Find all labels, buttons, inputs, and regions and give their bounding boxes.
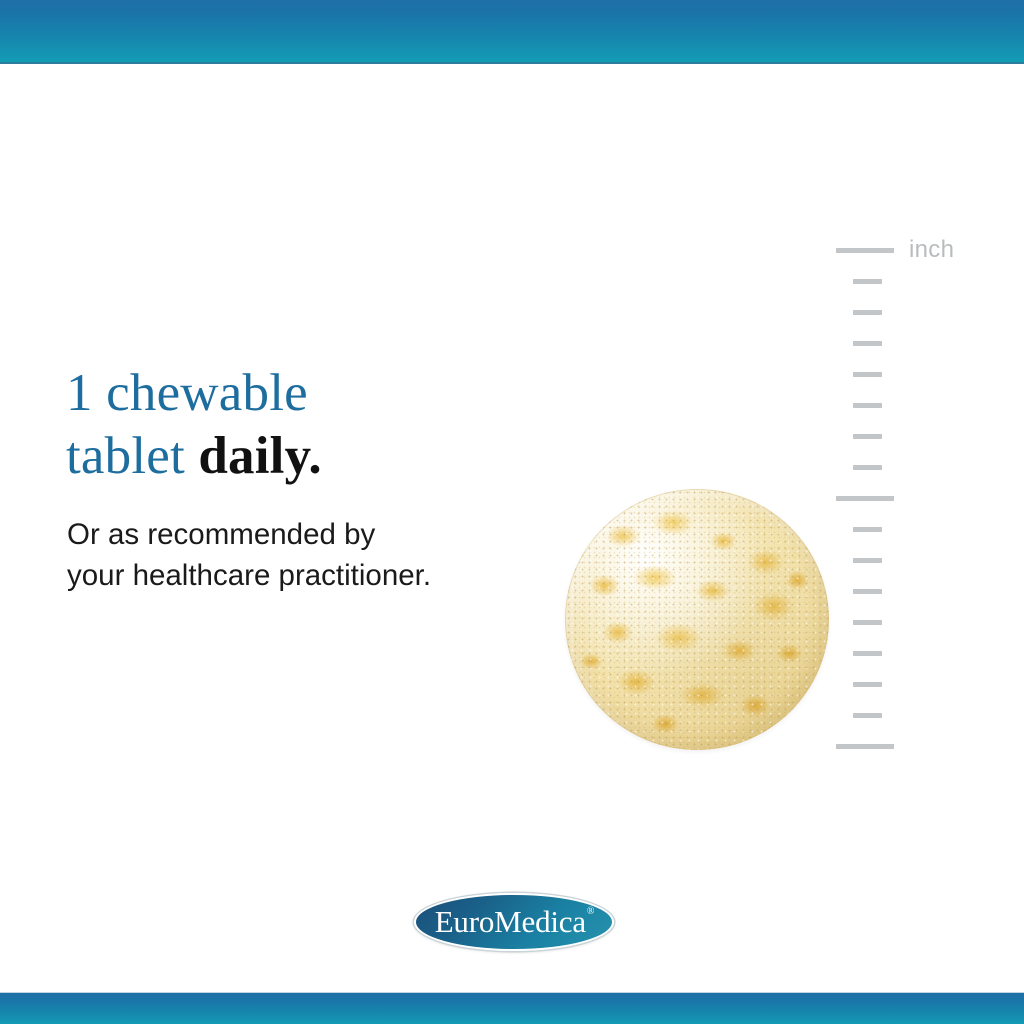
ruler-minor-tick xyxy=(853,589,882,594)
ruler-major-tick-0in xyxy=(836,248,894,253)
headline-block: 1 chewabletablet daily. xyxy=(66,362,536,488)
bottom-brand-bar xyxy=(0,992,1024,1024)
ruler-minor-tick xyxy=(853,341,882,346)
ruler-minor-tick xyxy=(853,682,882,687)
ruler-minor-tick xyxy=(853,279,882,284)
ruler-minor-tick xyxy=(853,372,882,377)
euromedica-logo: EuroMedica® xyxy=(414,893,614,951)
product-detail-image: 1 chewabletablet daily. Or as recommende… xyxy=(0,0,1024,1024)
chewable-tablet xyxy=(565,489,829,750)
top-brand-bar xyxy=(0,0,1024,64)
tablet-edge xyxy=(565,489,829,750)
ruler-minor-tick xyxy=(853,651,882,656)
ruler-minor-tick xyxy=(853,434,882,439)
headline-line-2-emphasis: daily. xyxy=(198,427,321,485)
logo-oval-shape: EuroMedica® xyxy=(414,893,614,951)
scale-ruler: inch xyxy=(836,248,986,758)
registered-trademark-icon: ® xyxy=(587,906,594,917)
ruler-minor-tick xyxy=(853,713,882,718)
ruler-minor-tick xyxy=(853,310,882,315)
ruler-major-tick-1in xyxy=(836,496,894,501)
ruler-minor-tick xyxy=(853,465,882,470)
ruler-minor-tick xyxy=(853,527,882,532)
headline-line-1: 1 chewable xyxy=(66,364,308,422)
product-tablet-image xyxy=(565,489,829,750)
headline-line-2-accent: tablet xyxy=(66,427,198,485)
ruler-minor-tick xyxy=(853,558,882,563)
ruler-minor-tick xyxy=(853,403,882,408)
page-title: 1 chewabletablet daily. xyxy=(66,362,536,488)
logo-wordmark-text: EuroMedica xyxy=(435,904,586,939)
ruler-minor-tick xyxy=(853,620,882,625)
ruler-unit-label: inch xyxy=(909,236,954,264)
logo-wordmark: EuroMedica® xyxy=(435,906,594,937)
dosage-subtext: Or as recommended by your healthcare pra… xyxy=(67,514,567,596)
ruler-major-tick-2in xyxy=(836,744,894,749)
